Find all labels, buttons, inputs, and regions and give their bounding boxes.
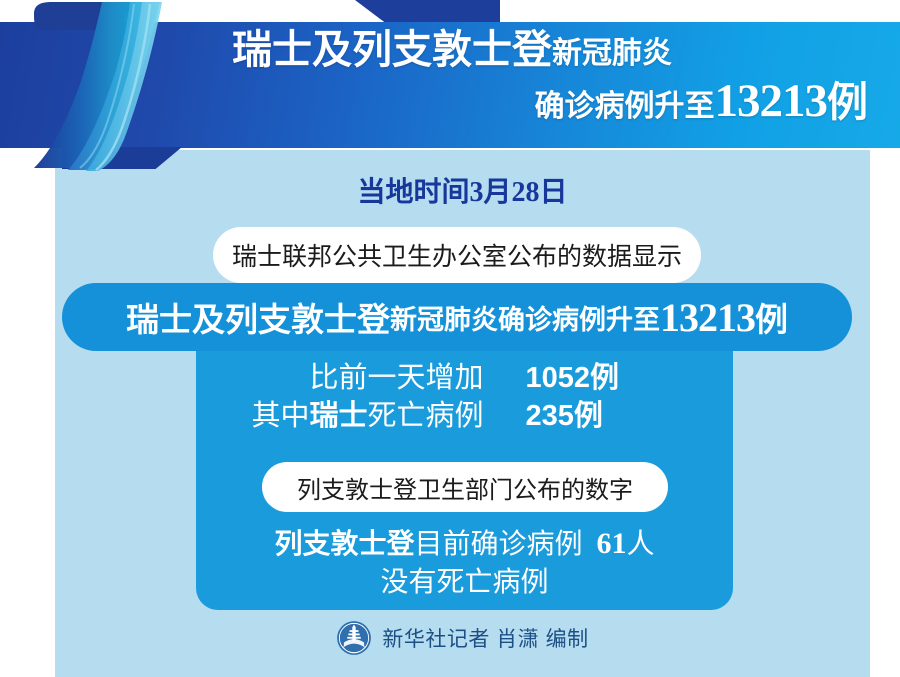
headline-sub: 新冠肺炎确诊病例升至 <box>390 298 660 337</box>
stat-label-deaths: 其中瑞士死亡病例 <box>224 398 484 436</box>
title-line-2: 确诊病例升至13213例 <box>220 75 880 128</box>
title-line-1: 瑞士及列支敦士登新冠肺炎 <box>220 28 880 73</box>
headline-pill: 瑞士及列支敦士登新冠肺炎确诊病例升至13213例 <box>62 283 852 351</box>
source2-text: 列支敦士登卫生部门公布的数字 <box>297 470 633 505</box>
title-line2-number: 13213 <box>715 75 828 127</box>
stat1-label-text: 其中 <box>251 400 309 432</box>
stat-value-daily-increase: 1052例 <box>484 360 706 398</box>
stat-row: 比前一天增加 1052例 <box>196 360 733 398</box>
poster-title: 瑞士及列支敦士登新冠肺炎 确诊病例升至13213例 <box>220 28 880 127</box>
liechtenstein-confirmed-row: 列支敦士登目前确诊病例61人 <box>196 524 733 564</box>
footer-credit: 新华社记者 肖潇 编制 <box>55 620 870 656</box>
headline-unit: 例 <box>755 293 788 341</box>
headline-main: 瑞士及列支敦士登 <box>126 293 390 341</box>
stat1-label-tail: 死亡病例 <box>367 400 483 432</box>
title-line2-main: 确诊病例升至 <box>535 90 715 123</box>
stat0-value: 1052 <box>526 362 591 394</box>
source1-text: 瑞士联邦公共卫生办公室公布的数据显示 <box>232 237 682 273</box>
title-line1-sub: 新冠肺炎 <box>552 37 672 70</box>
liechtenstein-confirmed-unit: 人 <box>627 528 655 559</box>
infographic-poster: 瑞士及列支敦士登新冠肺炎 确诊病例升至13213例 当地时间3月28日 瑞士联邦… <box>0 0 900 677</box>
switzerland-stats-group: 比前一天增加 1052例 其中瑞士死亡病例 235例 <box>196 360 733 435</box>
liechtenstein-stats-group: 列支敦士登目前确诊病例61人 没有死亡病例 <box>196 524 733 601</box>
credit-text: 新华社记者 肖潇 编制 <box>382 623 588 653</box>
header-banner: 瑞士及列支敦士登新冠肺炎 确诊病例升至13213例 <box>0 0 900 162</box>
headline-number: 13213 <box>660 294 755 341</box>
xinhua-logo-icon <box>336 620 372 656</box>
liechtenstein-no-deaths-row: 没有死亡病例 <box>196 564 733 601</box>
source-pill-liechtenstein: 列支敦士登卫生部门公布的数字 <box>262 462 668 512</box>
liechtenstein-name-bold: 列支敦士登 <box>274 528 414 559</box>
stat0-label-text: 比前一天增加 <box>309 362 483 394</box>
banner-wedge-decoration <box>355 0 500 24</box>
liechtenstein-confirmed-label: 目前确诊病例 <box>414 528 582 559</box>
stat1-unit: 例 <box>574 400 603 432</box>
stat-label-daily-increase: 比前一天增加 <box>224 360 484 398</box>
stat1-label-bold: 瑞士 <box>309 400 367 432</box>
source-pill-federal-office: 瑞士联邦公共卫生办公室公布的数据显示 <box>213 227 701 283</box>
stat-value-deaths: 235例 <box>484 398 706 436</box>
title-line2-unit: 例 <box>827 79 868 125</box>
stat-row: 其中瑞士死亡病例 235例 <box>196 398 733 436</box>
title-line1-main: 瑞士及列支敦士登 <box>232 28 552 72</box>
stat1-value: 235 <box>526 400 574 432</box>
liechtenstein-confirmed-number: 61 <box>597 527 627 560</box>
date-label: 当地时间3月28日 <box>55 170 870 210</box>
stat0-unit: 例 <box>590 362 619 394</box>
